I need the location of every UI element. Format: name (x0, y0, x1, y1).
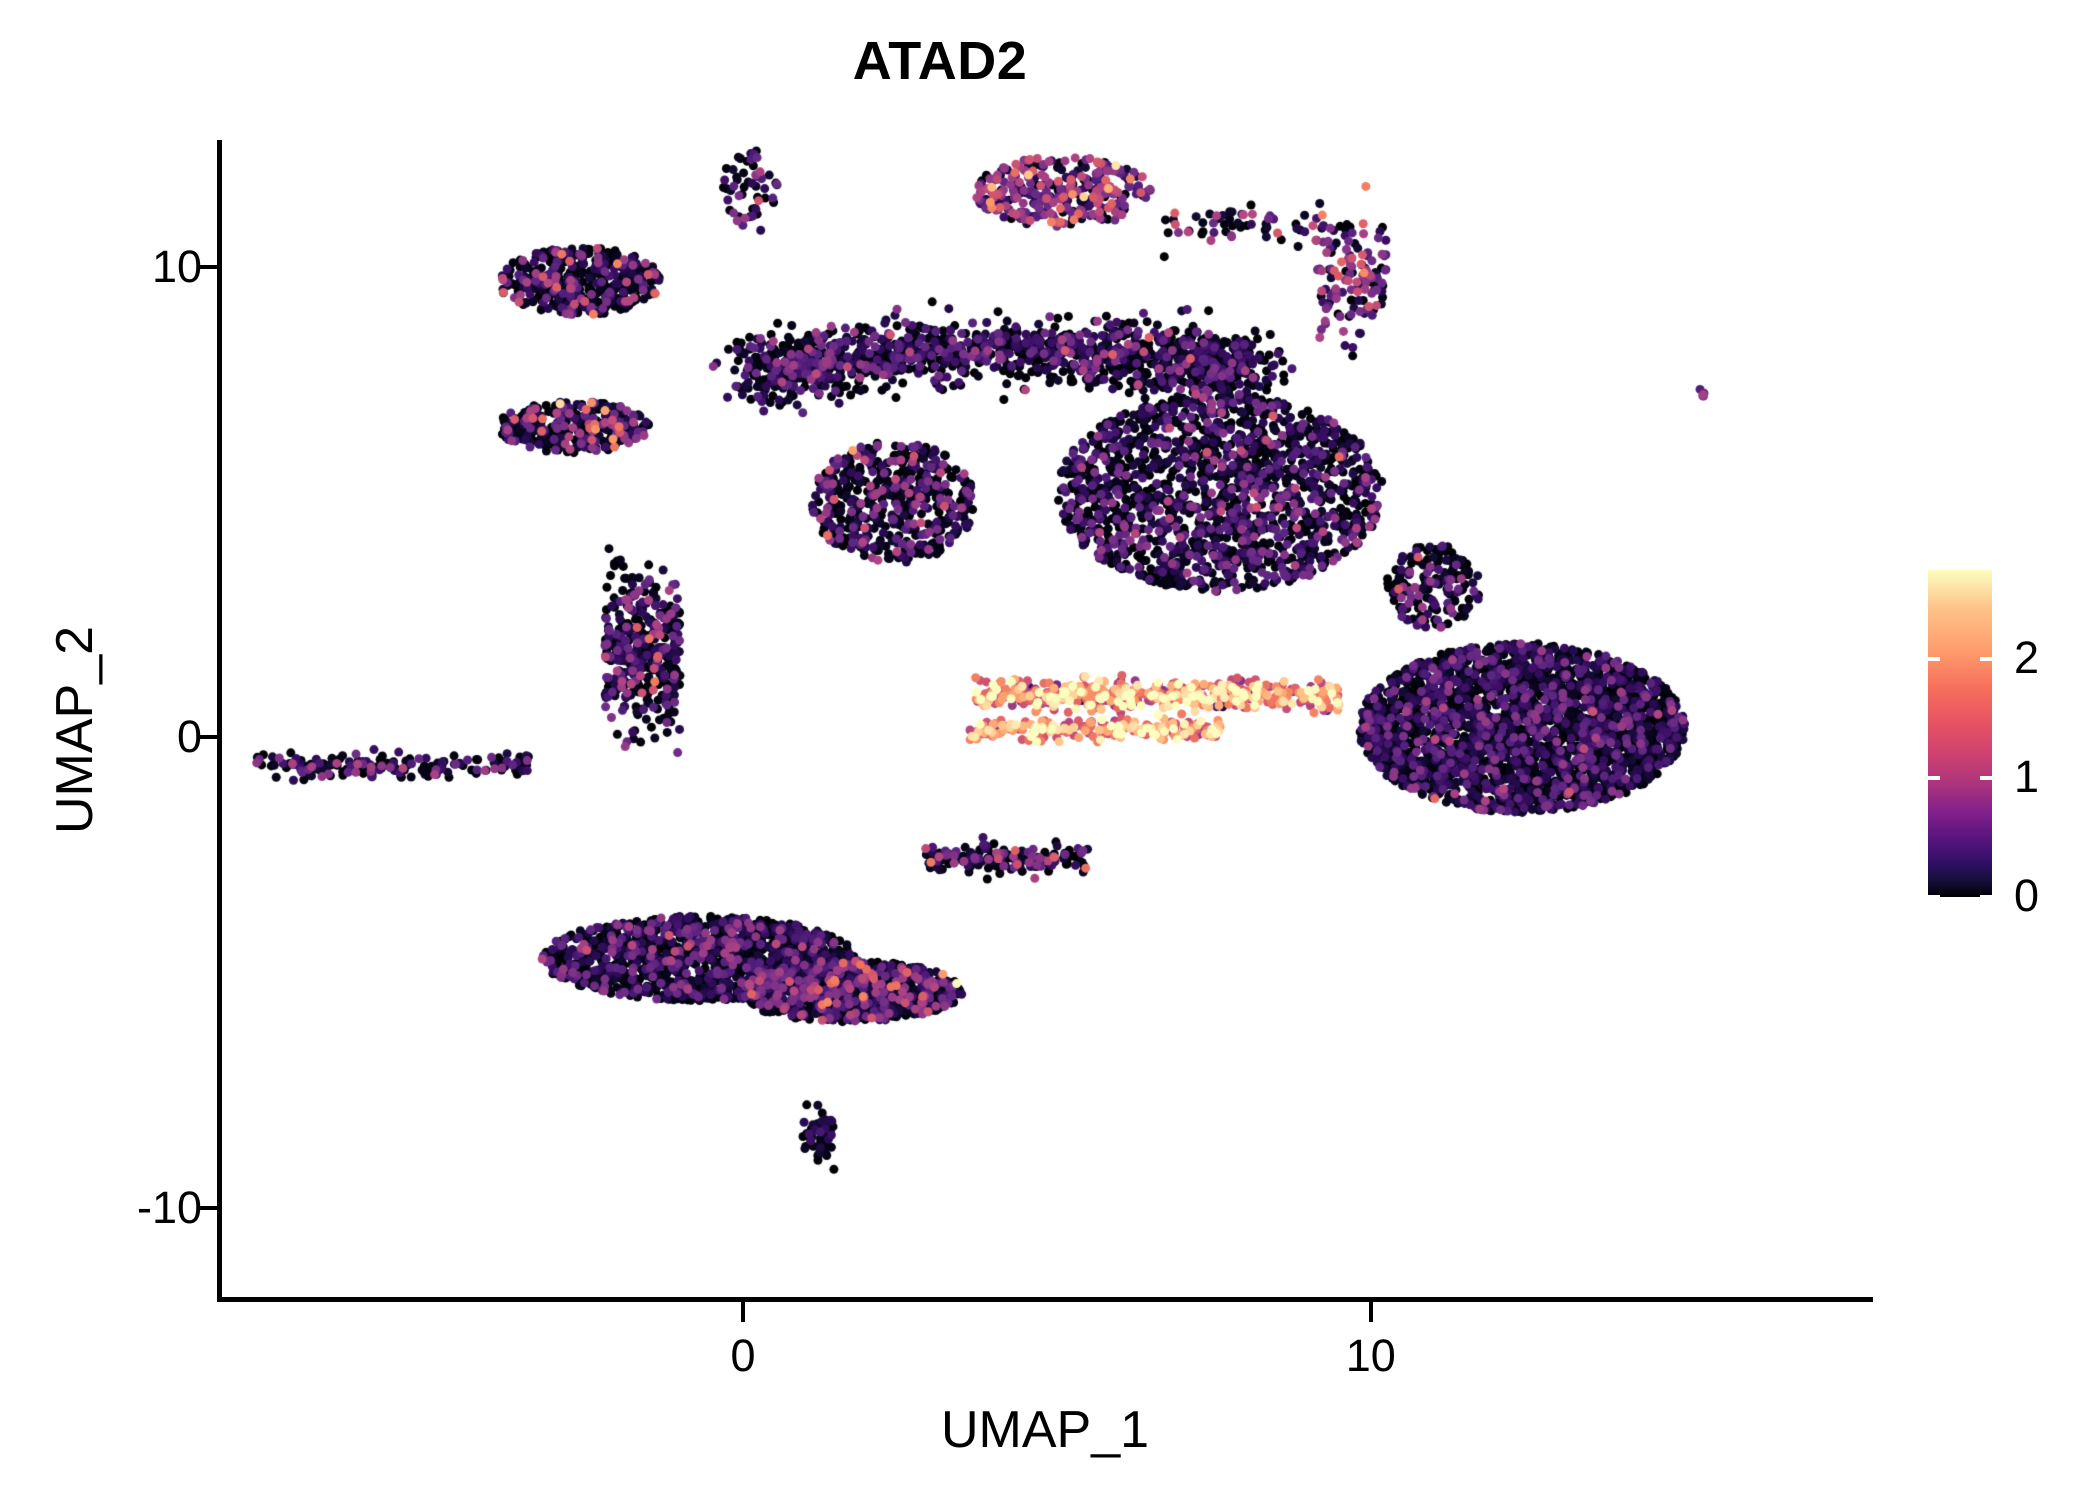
colorbar-legend: 2 1 0 (1928, 570, 2078, 910)
colorbar-gradient (1928, 570, 1992, 897)
colorbar-tick-1-right (1980, 776, 1992, 780)
x-tick-mark-10 (1369, 1302, 1373, 1322)
colorbar-tick-2-left (1928, 657, 1940, 661)
x-axis-line (217, 1297, 1873, 1302)
scatter-points-canvas (222, 140, 1873, 1297)
y-axis-title: UMAP_2 (45, 450, 105, 1010)
x-tick-label-0: 0 (643, 1330, 843, 1382)
y-axis-line (217, 140, 222, 1302)
colorbar-label-2: 2 (2014, 635, 2039, 680)
x-tick-label-10: 10 (1271, 1330, 1471, 1382)
y-tick-label-10: 10 (32, 241, 202, 293)
colorbar-label-0: 0 (2014, 873, 2039, 918)
scatter-plot-panel (222, 140, 1873, 1297)
x-axis-title: UMAP_1 (217, 1400, 1873, 1460)
x-tick-mark-0 (741, 1302, 745, 1322)
colorbar-label-1: 1 (2014, 754, 2039, 799)
page-title: ATAD2 (0, 30, 1880, 92)
y-tick-label-neg10: -10 (32, 1182, 202, 1234)
colorbar-tick-2-right (1980, 657, 1992, 661)
colorbar-tick-0-left (1928, 895, 1940, 899)
figure-root: ATAD2 10 0 -10 0 10 UMAP_2 UMAP_1 2 1 0 (0, 0, 2100, 1500)
colorbar-tick-1-left (1928, 776, 1940, 780)
colorbar-tick-0-right (1980, 895, 1992, 899)
